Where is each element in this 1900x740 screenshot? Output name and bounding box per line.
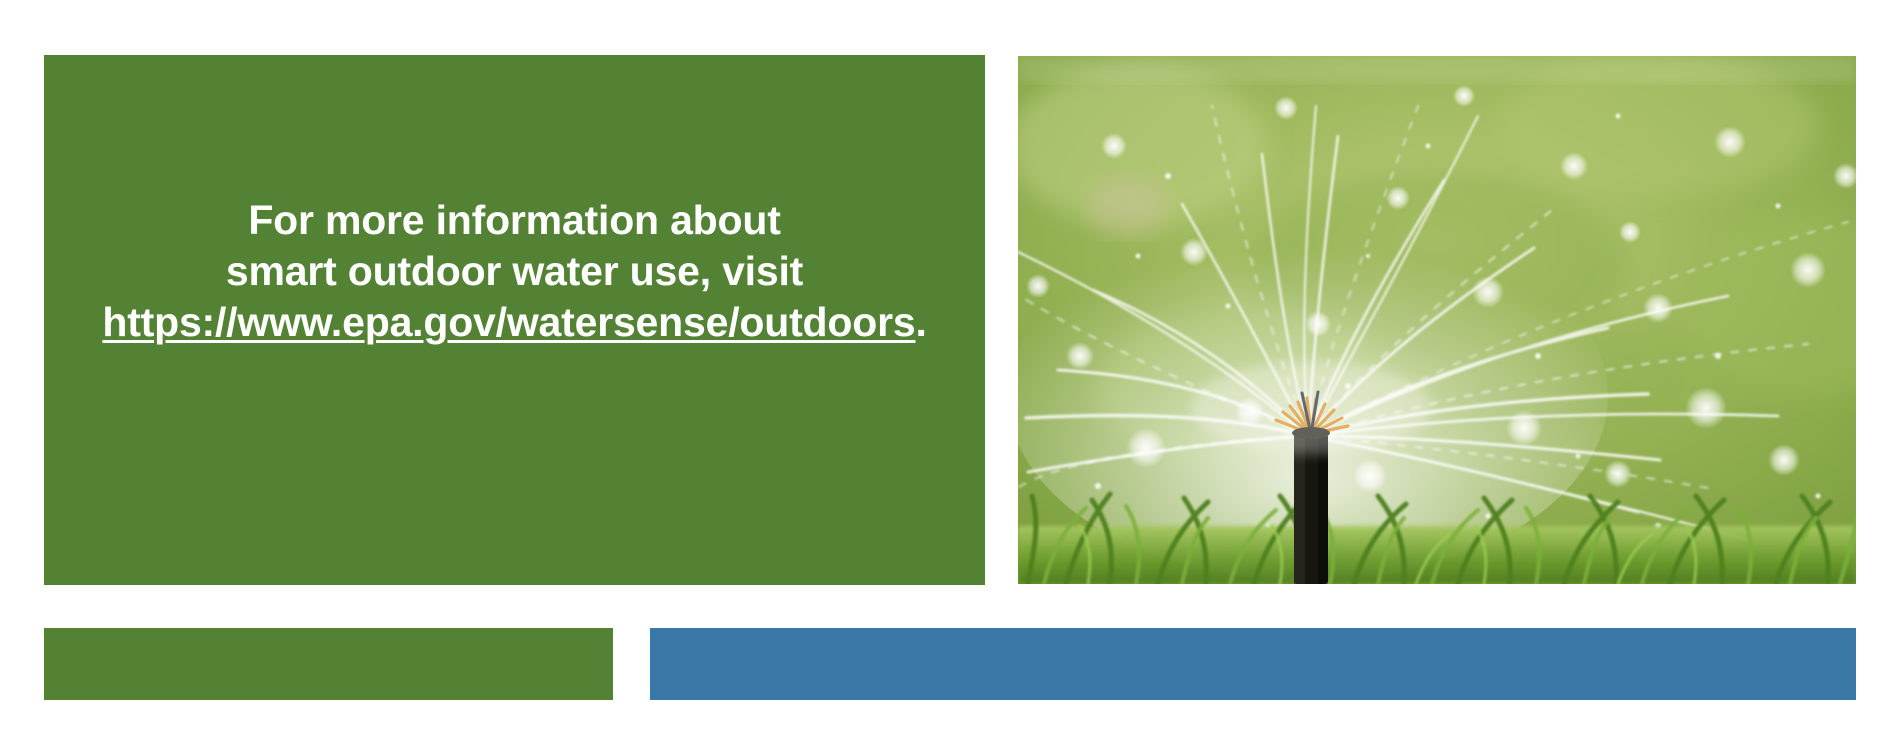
callout-period: . [915, 299, 926, 345]
sprinkler-photo [1018, 56, 1856, 584]
accent-bar-green [44, 628, 613, 700]
callout-line-1: For more information about [44, 195, 985, 246]
callout-line-2: smart outdoor water use, visit [44, 246, 985, 297]
callout-panel: For more information about smart outdoor… [44, 55, 985, 585]
sprinkler-photo-artwork [1018, 56, 1856, 584]
slide-canvas: For more information about smart outdoor… [0, 0, 1900, 740]
watersense-outdoors-link[interactable]: https://www.epa.gov/watersense/outdoors [102, 299, 915, 345]
accent-bar-blue [650, 628, 1856, 700]
callout-text-block: For more information about smart outdoor… [44, 195, 985, 348]
callout-line-3: https://www.epa.gov/watersense/outdoors. [44, 297, 985, 348]
